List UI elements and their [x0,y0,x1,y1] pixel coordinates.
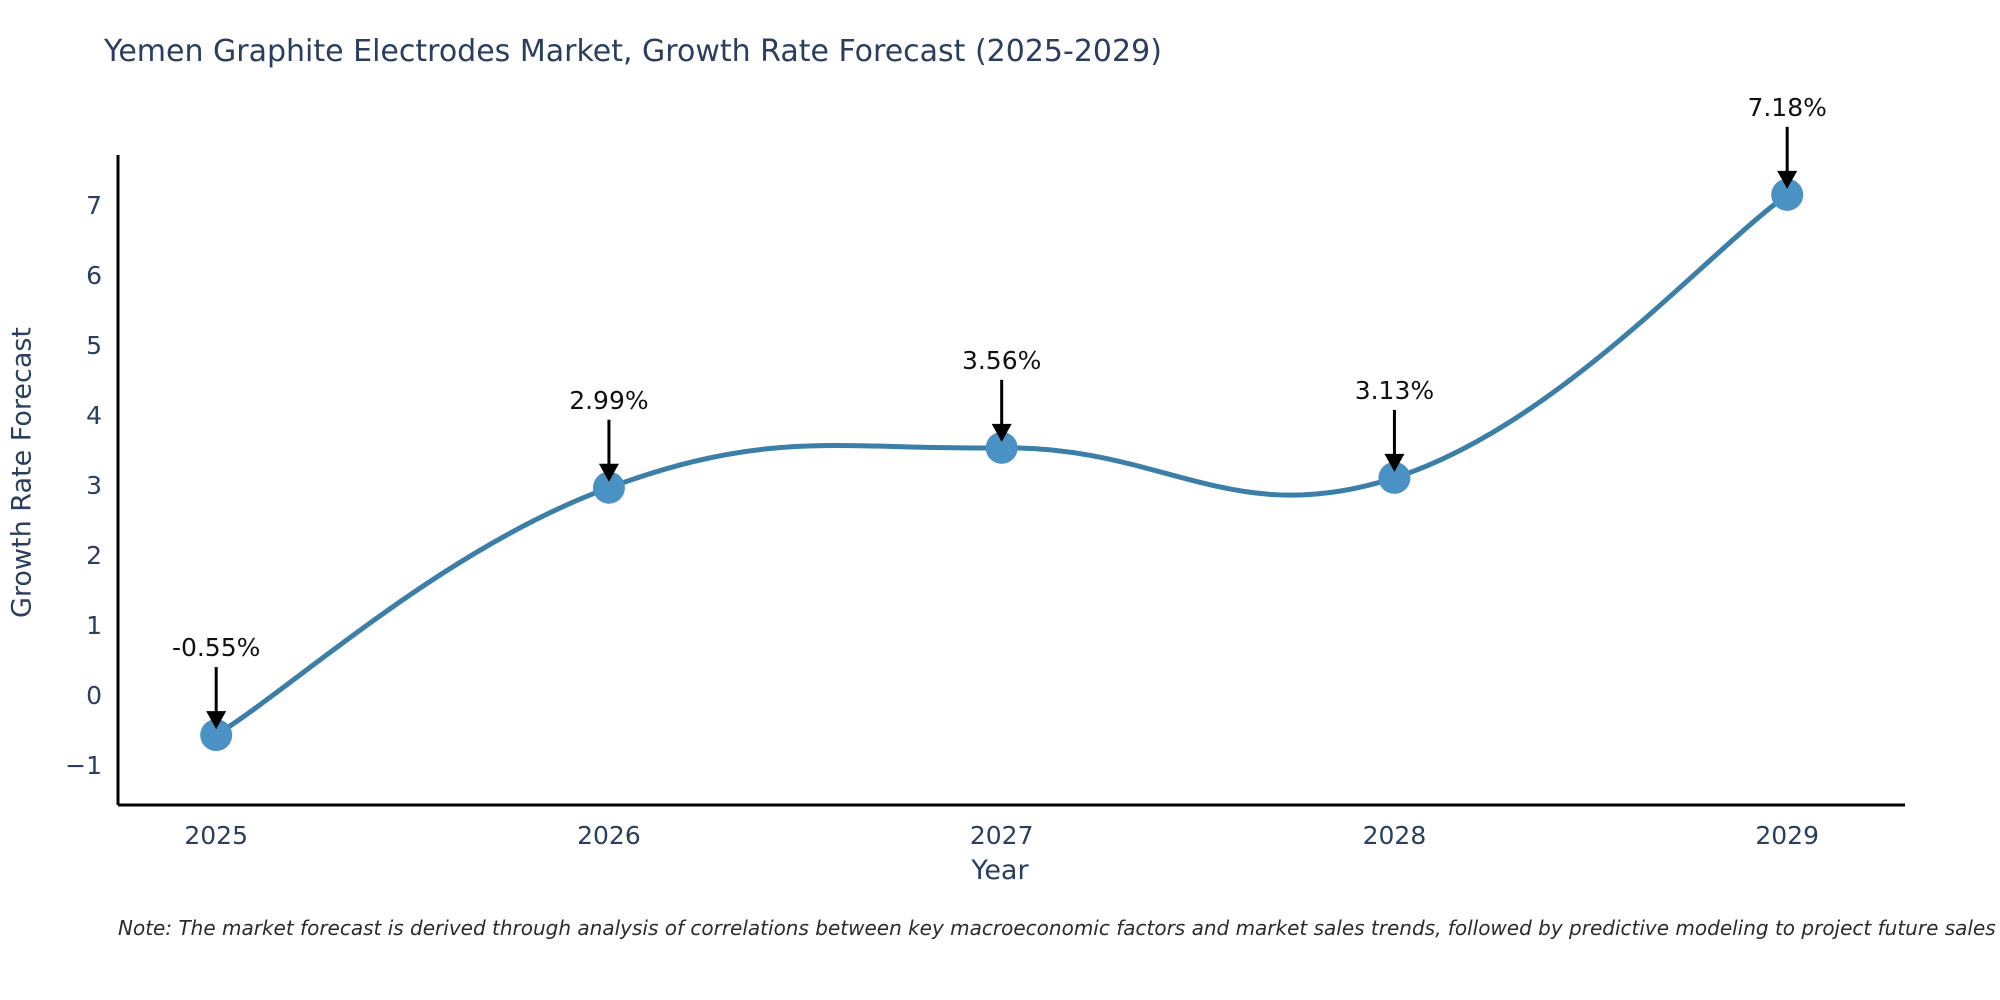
series-line [216,195,1787,735]
y-tick-label: 4 [32,401,102,430]
x-axis-title: Year [0,855,2000,886]
data-point-label: 3.56% [902,346,1102,375]
y-tick-label: 6 [32,261,102,290]
data-point-label: -0.55% [116,633,316,662]
x-tick-label: 2028 [1324,821,1464,850]
plot-area [0,0,2000,1000]
y-tick-label: −1 [32,751,102,780]
y-tick-label: 7 [32,191,102,220]
y-tick-label: 2 [32,541,102,570]
x-tick-label: 2027 [932,821,1072,850]
data-point-label: 7.18% [1687,93,1887,122]
y-tick-label: 3 [32,471,102,500]
data-point-label: 3.13% [1294,376,1494,405]
annotation-arrows [206,127,1797,729]
y-tick-label: 1 [32,611,102,640]
x-tick-label: 2026 [539,821,679,850]
data-point-label: 2.99% [509,386,709,415]
y-tick-label: 0 [32,681,102,710]
x-tick-label: 2025 [146,821,286,850]
y-tick-label: 5 [32,331,102,360]
y-axis-title: Growth Rate Forecast [7,303,38,643]
x-tick-label: 2029 [1717,821,1857,850]
data-series-growth-rate [200,179,1803,751]
chart-figure: Yemen Graphite Electrodes Market, Growth… [0,0,2000,1000]
footnote-text: Note: The market forecast is derived thr… [118,916,1996,940]
